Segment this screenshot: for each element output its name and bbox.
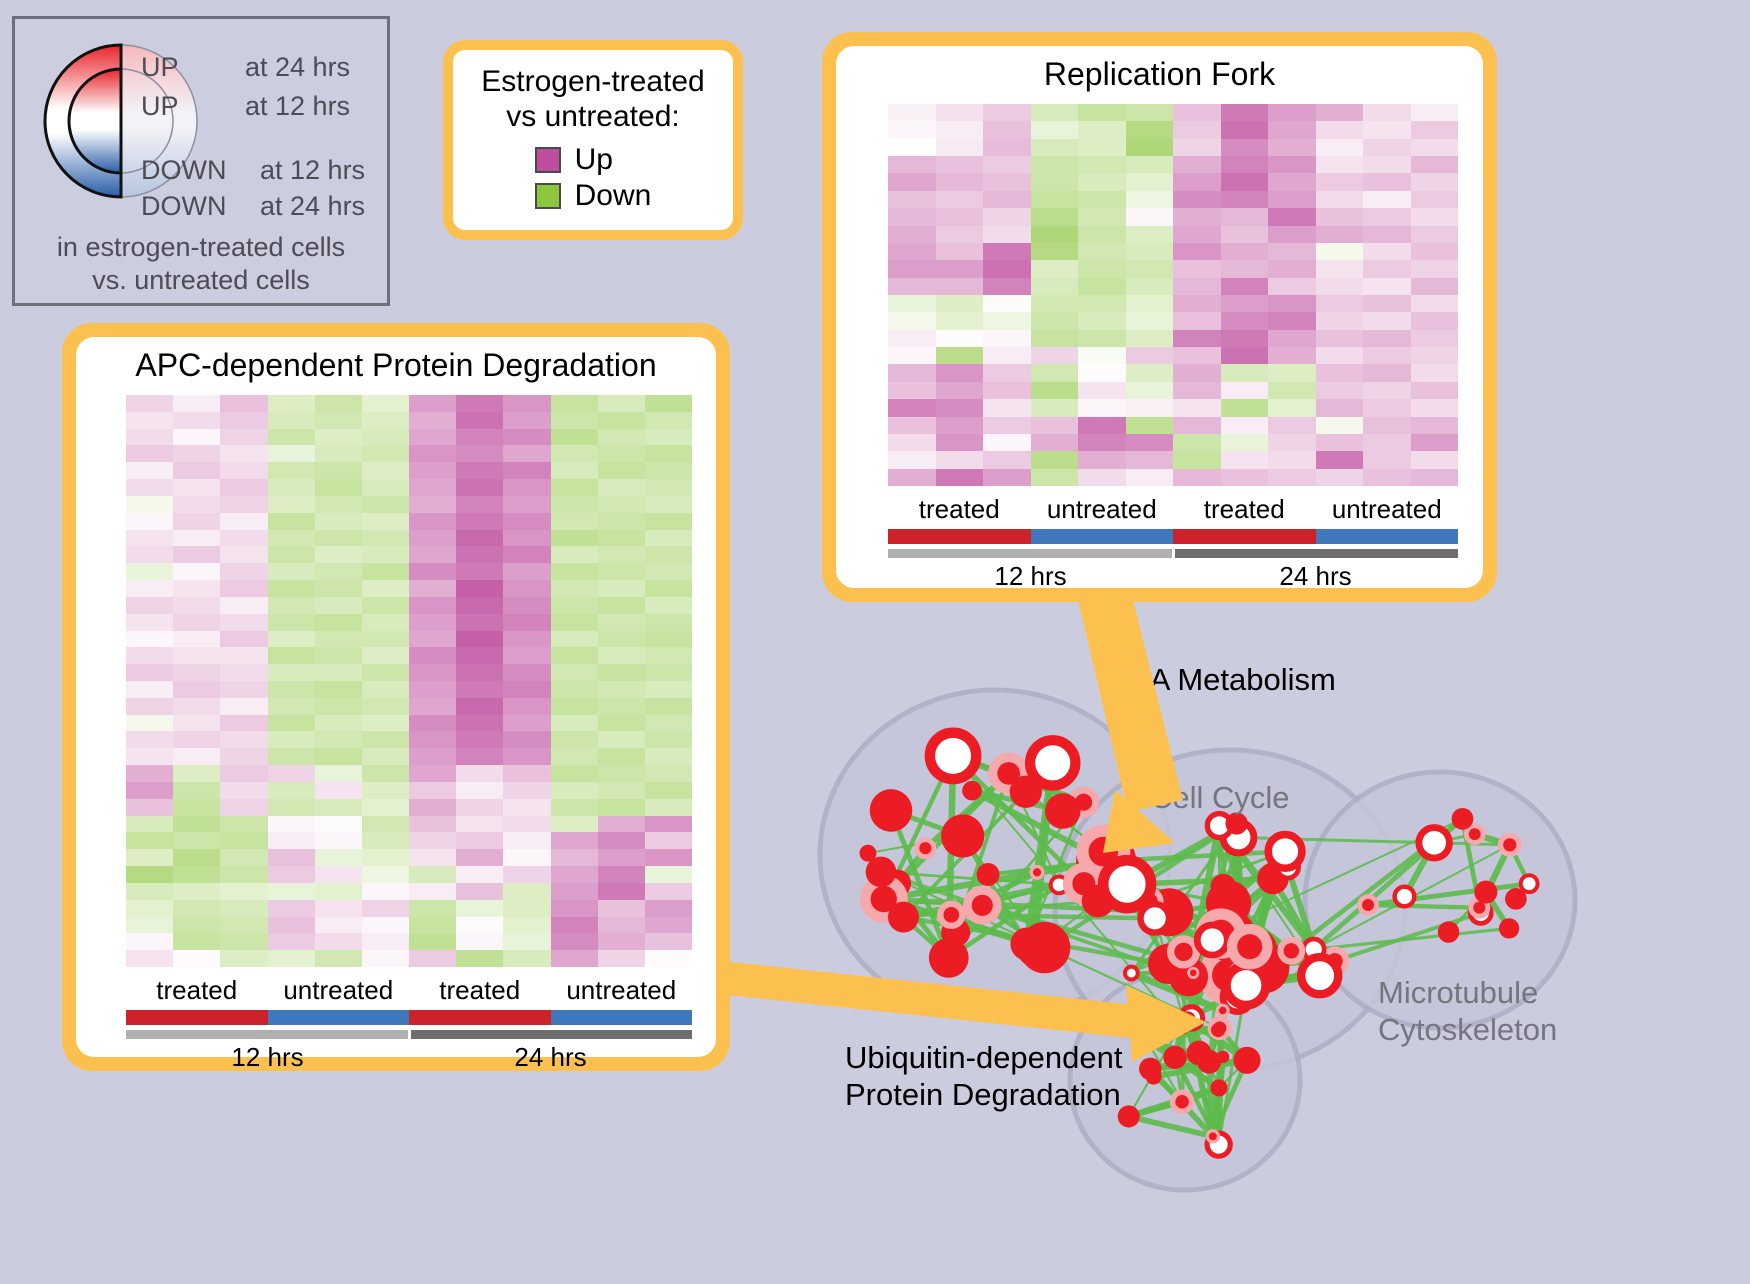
heatmap-cell (1126, 399, 1174, 416)
heatmap-cell (173, 715, 220, 732)
heatmap-cell (1031, 434, 1079, 451)
panel-replication-fork: Replication Fork treated untreated treat… (822, 32, 1497, 602)
heatmap-cell (503, 614, 550, 631)
heatmap-cell (409, 546, 456, 563)
heatmap-cell (1031, 364, 1079, 381)
heatmap-cell (268, 681, 315, 698)
heatmap-cell (220, 647, 267, 664)
heatmap-cell (315, 445, 362, 462)
heatmap-cell (268, 731, 315, 748)
heatmap-cell (1126, 434, 1174, 451)
heatmap-cell (126, 445, 173, 462)
network-node (1210, 1079, 1227, 1096)
heatmap-cell (1363, 156, 1411, 173)
heatmap-cell (220, 530, 267, 547)
heatmap-cell (126, 462, 173, 479)
heatmap-cell (983, 208, 1031, 225)
heatmap-cell (268, 950, 315, 967)
heatmap-cell (220, 462, 267, 479)
heatmap-cell (888, 330, 936, 347)
heatmap-cell (315, 631, 362, 648)
heatmap-cell (409, 849, 456, 866)
heatmap-cell (220, 748, 267, 765)
heatmap-cell (362, 462, 409, 479)
heatmap-cell (126, 664, 173, 681)
heatmap-cell (268, 765, 315, 782)
network-node (977, 863, 1000, 886)
heatmap-cell (1316, 469, 1364, 486)
heatmap-cell (598, 900, 645, 917)
heatmap-cell (1316, 191, 1364, 208)
heatmap-cell (268, 782, 315, 799)
key-ring-time-down12: at 12 hrs (260, 155, 365, 186)
heatmap-cell (936, 278, 984, 295)
time-label-12hrs: 12 hrs (888, 561, 1173, 592)
heatmap-cell (645, 883, 692, 900)
heatmap-cell (551, 681, 598, 698)
heatmap-cell (1316, 260, 1364, 277)
heatmap-cell (1126, 278, 1174, 295)
heatmap-cell (456, 530, 503, 547)
heatmap-cell (409, 883, 456, 900)
heatmap-cell (456, 647, 503, 664)
heatmap-cell (1173, 312, 1221, 329)
heatmap-cell (456, 412, 503, 429)
heatmap-cell (1316, 156, 1364, 173)
heatmap-cell (936, 139, 984, 156)
heatmap-cell (1173, 278, 1221, 295)
cluster-label-microtubule: Microtubule Cytoskeleton (1378, 975, 1557, 1048)
heatmap-cell (551, 513, 598, 530)
heatmap-cell (1363, 295, 1411, 312)
heatmap-cell (315, 496, 362, 513)
heatmap-cell (315, 429, 362, 446)
heatmap-cell (503, 496, 550, 513)
heatmap-cell (645, 395, 692, 412)
heatmap-cell (456, 950, 503, 967)
heatmap-cell (551, 614, 598, 631)
heatmap-cell (503, 816, 550, 833)
heatmap-cell (126, 597, 173, 614)
heatmap-cell (220, 816, 267, 833)
heatmap-cell (1031, 121, 1079, 138)
heatmap-cell (645, 731, 692, 748)
heatmap-cell (1173, 330, 1221, 347)
heatmap-cell (315, 530, 362, 547)
heatmap-cell (936, 399, 984, 416)
heatmap-cell (1126, 191, 1174, 208)
heatmap-cell (1221, 121, 1269, 138)
heatmap-cell (1126, 295, 1174, 312)
heatmap-cell (598, 681, 645, 698)
heatmap-cell (1173, 347, 1221, 364)
heatmap-cell (173, 866, 220, 883)
group-label-untreated-24: untreated (551, 975, 693, 1006)
heatmap-cell (456, 479, 503, 496)
heatmap-cell (645, 715, 692, 732)
heatmap-cell (1221, 226, 1269, 243)
heatmap-cell (362, 816, 409, 833)
heatmap-cell (315, 933, 362, 950)
heatmap-cell (362, 664, 409, 681)
heatmap-cell (1078, 278, 1126, 295)
heatmap-cell (1173, 469, 1221, 486)
heatmap-cell (220, 580, 267, 597)
heatmap-cell (551, 546, 598, 563)
heatmap-cell (126, 799, 173, 816)
network-node (888, 902, 919, 933)
group-labels-apc-degradation: treated untreated treated untreated (126, 975, 692, 1006)
key-ring-time-up12: at 12 hrs (245, 91, 350, 122)
network-node (1211, 1023, 1225, 1037)
heatmap-cell (456, 900, 503, 917)
condition-bar-untreated-12 (1031, 529, 1174, 544)
heatmap-cell (1363, 139, 1411, 156)
heatmap-cell (362, 832, 409, 849)
condition-bar-treated-12 (888, 529, 1031, 544)
heatmap-cell (503, 782, 550, 799)
heatmap-cell (983, 399, 1031, 416)
heatmap-cell (1316, 451, 1364, 468)
heatmap-cell (1363, 312, 1411, 329)
heatmap-cell (503, 664, 550, 681)
heatmap-cell (268, 917, 315, 934)
heatmap-cell (1316, 278, 1364, 295)
heatmap-cell (1268, 434, 1316, 451)
heatmap-cell (551, 479, 598, 496)
heatmap-cell (1221, 156, 1269, 173)
heatmap-cell (1221, 173, 1269, 190)
heatmap-cell (315, 647, 362, 664)
condition-bar-untreated-12 (268, 1010, 410, 1025)
heatmap-cell (409, 479, 456, 496)
heatmap-cell (1078, 104, 1126, 121)
heatmap-apc-degradation (126, 395, 692, 967)
heatmap-cell (1411, 278, 1459, 295)
heatmap-cell (1078, 364, 1126, 381)
heatmap-cell (409, 832, 456, 849)
heatmap-cell (268, 563, 315, 580)
heatmap-cell (173, 614, 220, 631)
heatmap-cell (126, 832, 173, 849)
heatmap-cell (268, 698, 315, 715)
heatmap-cell (645, 614, 692, 631)
heatmap-cell (315, 580, 362, 597)
heatmap-cell (1031, 382, 1079, 399)
heatmap-cell (268, 748, 315, 765)
heatmap-cell (598, 799, 645, 816)
heatmap-cell (456, 546, 503, 563)
heatmap-cell (983, 278, 1031, 295)
heatmap-cell (268, 580, 315, 597)
heatmap-cell (126, 698, 173, 715)
heatmap-cell (1031, 330, 1079, 347)
heatmap-cell (456, 748, 503, 765)
network-graph-svg (760, 600, 1750, 1279)
heatmap-cell (645, 546, 692, 563)
heatmap-cell (456, 849, 503, 866)
heatmap-cell (220, 765, 267, 782)
updown-legend-inner: Estrogen-treated vs untreated: Up Down (453, 50, 733, 230)
heatmap-cell (503, 849, 550, 866)
heatmap-cell (409, 664, 456, 681)
heatmap-cell (503, 832, 550, 849)
network-node (870, 789, 913, 832)
heatmap-cell (456, 715, 503, 732)
heatmap-cell (888, 173, 936, 190)
heatmap-cell (409, 900, 456, 917)
group-label-treated-12: treated (888, 494, 1031, 525)
figure-canvas: UP at 24 hrs UP at 12 hrs DOWN at 12 hrs… (0, 0, 1750, 1279)
heatmap-cell (456, 731, 503, 748)
heatmap-cell (1268, 191, 1316, 208)
heatmap-cell (409, 647, 456, 664)
heatmap-cell (173, 412, 220, 429)
heatmap-cell (126, 546, 173, 563)
heatmap-cell (173, 917, 220, 934)
heatmap-cell (268, 664, 315, 681)
heatmap-cell (456, 395, 503, 412)
heatmap-cell (362, 513, 409, 530)
network-node-core (1174, 943, 1192, 961)
heatmap-cell (409, 614, 456, 631)
heatmap-cell (1126, 226, 1174, 243)
heatmap-cell (645, 816, 692, 833)
heatmap-cell (1221, 260, 1269, 277)
heatmap-cell (1173, 208, 1221, 225)
key-ring-label-down24: DOWN (141, 191, 226, 222)
network-node-core (972, 895, 993, 916)
heatmap-cell (888, 417, 936, 434)
heatmap-cell (551, 563, 598, 580)
heatmap-cell (126, 849, 173, 866)
heatmap-cell (983, 260, 1031, 277)
heatmap-cell (503, 883, 550, 900)
heatmap-cell (1363, 399, 1411, 416)
heatmap-cell (1078, 451, 1126, 468)
heatmap-cell (645, 563, 692, 580)
heatmap-cell (1173, 434, 1221, 451)
heatmap-cell (126, 681, 173, 698)
heatmap-cell (1268, 226, 1316, 243)
heatmap-cell (1221, 451, 1269, 468)
heatmap-cell (1173, 243, 1221, 260)
network-node (1419, 828, 1450, 859)
heatmap-cell (503, 681, 550, 698)
heatmap-cell (126, 412, 173, 429)
heatmap-cell (598, 933, 645, 950)
heatmap-cell (503, 698, 550, 715)
heatmap-cell (1363, 417, 1411, 434)
heatmap-cell (1078, 330, 1126, 347)
heatmap-cell (315, 866, 362, 883)
heatmap-cell (362, 883, 409, 900)
heatmap-cell (503, 412, 550, 429)
group-label-treated-24: treated (409, 975, 551, 1006)
heatmap-cell (220, 883, 267, 900)
heatmap-cell (220, 782, 267, 799)
heatmap-cell (315, 412, 362, 429)
heatmap-cell (1126, 364, 1174, 381)
heatmap-cell (1268, 382, 1316, 399)
heatmap-cell (456, 597, 503, 614)
heatmap-cell (551, 765, 598, 782)
heatmap-cell (409, 597, 456, 614)
heatmap-cell (503, 580, 550, 597)
heatmap-cell (173, 799, 220, 816)
heatmap-cell (936, 156, 984, 173)
heatmap-cell (362, 950, 409, 967)
heatmap-cell (315, 546, 362, 563)
heatmap-cell (983, 382, 1031, 399)
heatmap-cell (173, 782, 220, 799)
heatmap-cell (645, 933, 692, 950)
heatmap-cell (983, 469, 1031, 486)
heatmap-cell (598, 597, 645, 614)
heatmap-cell (1363, 260, 1411, 277)
heatmap-cell (1078, 434, 1126, 451)
heatmap-cell (173, 530, 220, 547)
heatmap-cell (983, 104, 1031, 121)
heatmap-cell (362, 479, 409, 496)
heatmap-cell (126, 950, 173, 967)
network-node (1125, 967, 1138, 980)
heatmap-cell (173, 647, 220, 664)
heatmap-cell (1268, 243, 1316, 260)
heatmap-cell (409, 412, 456, 429)
heatmap-cell (1031, 399, 1079, 416)
heatmap-cell (1411, 191, 1459, 208)
group-label-untreated-12: untreated (1031, 494, 1174, 525)
heatmap-cell (888, 399, 936, 416)
heatmap-cell (1031, 278, 1079, 295)
heatmap-cell (1221, 469, 1269, 486)
heatmap-cell (645, 462, 692, 479)
heatmap-cell (888, 208, 936, 225)
network-node (1197, 1050, 1221, 1074)
heatmap-cell (888, 382, 936, 399)
heatmap-cell (268, 429, 315, 446)
network-node (1301, 957, 1338, 994)
heatmap-cell (1031, 191, 1079, 208)
heatmap-cell (551, 631, 598, 648)
heatmap-cell (362, 849, 409, 866)
heatmap-cell (1316, 173, 1364, 190)
time-label-24hrs: 24 hrs (1173, 561, 1458, 592)
heatmap-cell (551, 900, 598, 917)
heatmap-cell (173, 765, 220, 782)
heatmap-cell (173, 748, 220, 765)
heatmap-cell (936, 382, 984, 399)
heatmap-cell (936, 417, 984, 434)
heatmap-cell (362, 563, 409, 580)
heatmap-cell (456, 429, 503, 446)
heatmap-cell (936, 330, 984, 347)
heatmap-cell (268, 530, 315, 547)
heatmap-cell (1316, 295, 1364, 312)
heatmap-cell (362, 681, 409, 698)
heatmap-cell (1316, 104, 1364, 121)
heatmap-cell (598, 866, 645, 883)
heatmap-cell (1411, 312, 1459, 329)
network-node-core (1469, 828, 1481, 840)
cluster-label-ubiquitin: Ubiquitin-dependent Protein Degradation (845, 1040, 1123, 1113)
legend-label-down: Down (575, 179, 652, 213)
heatmap-cell (1316, 226, 1364, 243)
heatmap-cell (983, 243, 1031, 260)
condition-bar-untreated-24 (1316, 529, 1459, 544)
heatmap-cell (598, 748, 645, 765)
heatmap-cell (456, 462, 503, 479)
heatmap-cell (598, 883, 645, 900)
key-ring-time-down24: at 24 hrs (260, 191, 365, 222)
heatmap-cell (503, 530, 550, 547)
heatmap-cell (1126, 173, 1174, 190)
group-label-treated-24: treated (1173, 494, 1316, 525)
heatmap-cell (551, 883, 598, 900)
heatmap-cell (551, 832, 598, 849)
network-node-core (1190, 970, 1197, 977)
heatmap-cell (1411, 121, 1459, 138)
heatmap-cell (1173, 156, 1221, 173)
network-node-core (1503, 838, 1516, 851)
heatmap-cell (268, 412, 315, 429)
heatmap-cell (645, 445, 692, 462)
heatmap-cell (1031, 295, 1079, 312)
heatmap-cell (362, 799, 409, 816)
heatmap-cell (598, 647, 645, 664)
heatmap-cell (315, 917, 362, 934)
heatmap-cell (1078, 399, 1126, 416)
heatmap-cell (173, 546, 220, 563)
heatmap-cell (1411, 260, 1459, 277)
legend-title-line1: Estrogen-treated (481, 65, 704, 100)
network-node (930, 733, 976, 779)
heatmap-cell (220, 849, 267, 866)
panel-apc-degradation: APC-dependent Protein Degradation treate… (62, 323, 730, 1071)
heatmap-cell (1268, 121, 1316, 138)
network-node (1474, 881, 1497, 904)
heatmap-cell (268, 614, 315, 631)
heatmap-cell (173, 395, 220, 412)
heatmap-cell (551, 748, 598, 765)
network-node (1499, 918, 1519, 938)
heatmap-cell (936, 208, 984, 225)
heatmap-cell (1363, 226, 1411, 243)
heatmap-cell (888, 347, 936, 364)
heatmap-cell (503, 799, 550, 816)
heatmap-cell (220, 546, 267, 563)
heatmap-cell (936, 469, 984, 486)
heatmap-cell (551, 597, 598, 614)
heatmap-cell (220, 479, 267, 496)
condition-bar-replication-fork (888, 529, 1458, 544)
heatmap-cell (645, 866, 692, 883)
heatmap-cell (1363, 208, 1411, 225)
heatmap-cell (362, 580, 409, 597)
network-node (1226, 966, 1266, 1006)
heatmap-cell (503, 395, 550, 412)
network-node (1139, 1058, 1162, 1081)
heatmap-cell (409, 933, 456, 950)
heatmap-cell (503, 950, 550, 967)
heatmap-cell (1078, 243, 1126, 260)
heatmap-cell (1411, 347, 1459, 364)
heatmap-cell (409, 429, 456, 446)
heatmap-cell (1221, 399, 1269, 416)
heatmap-cell (1031, 226, 1079, 243)
heatmap-cell (888, 278, 936, 295)
